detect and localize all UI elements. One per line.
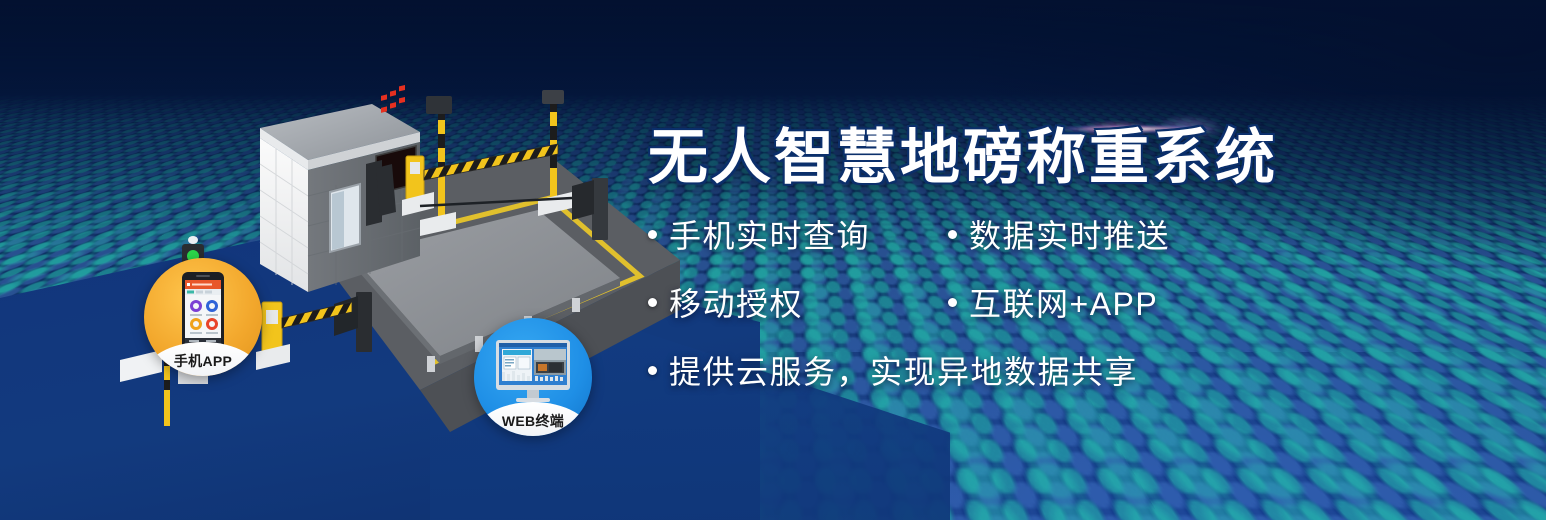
- feature-label: 互联网+APP: [969, 279, 1158, 325]
- feature-item: 提供云服务，实现异地数据共享: [648, 347, 1138, 393]
- feature-row: 手机实时查询 数据实时推送: [648, 211, 1528, 257]
- feature-label: 提供云服务，实现异地数据共享: [669, 347, 1138, 393]
- badge-web-terminal[interactable]: WEB终端: [474, 318, 592, 436]
- station-window: [330, 184, 360, 252]
- feature-item: 手机实时查询: [648, 211, 948, 257]
- gate-post: [334, 292, 372, 352]
- badge-phone-app[interactable]: 手机APP: [144, 258, 262, 376]
- dot-bullet-icon: [948, 230, 957, 239]
- weigh-station-building: [260, 85, 420, 292]
- feature-item: 移动授权: [648, 279, 948, 325]
- weighbridge-promo-banner: 手机APP: [0, 0, 1546, 520]
- barrier-gate: [256, 302, 352, 370]
- dot-bullet-icon: [648, 298, 657, 307]
- feature-label: 手机实时查询: [669, 211, 870, 257]
- feature-label: 移动授权: [669, 279, 803, 325]
- banner-copy: 无人智慧地磅称重系统 手机实时查询 数据实时推送 移动授权: [648, 126, 1528, 415]
- dot-bullet-icon: [648, 366, 657, 375]
- feature-item: 互联网+APP: [948, 279, 1248, 325]
- feature-row: 提供云服务，实现异地数据共享: [648, 347, 1528, 393]
- feature-list: 手机实时查询 数据实时推送 移动授权 互联网+APP: [648, 211, 1528, 393]
- page-title: 无人智慧地磅称重系统: [648, 126, 1528, 189]
- dot-bullet-icon: [648, 230, 657, 239]
- feature-label: 数据实时推送: [969, 211, 1170, 257]
- feature-item: 数据实时推送: [948, 211, 1248, 257]
- feature-row: 移动授权 互联网+APP: [648, 279, 1528, 325]
- dot-bullet-icon: [948, 298, 957, 307]
